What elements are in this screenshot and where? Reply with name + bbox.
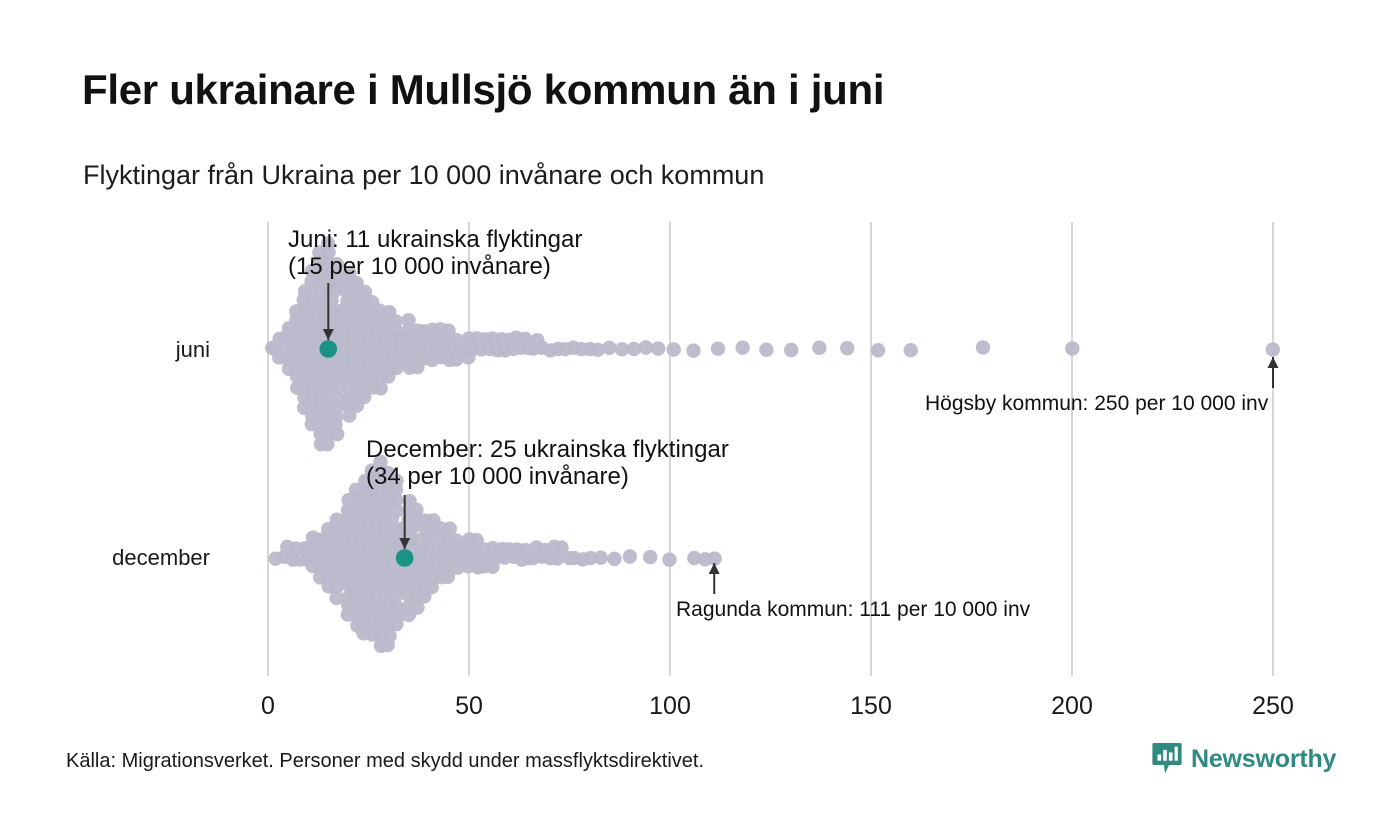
annotation-juni-line-2: (15 per 10 000 invånare) [288,253,582,280]
data-point [330,427,344,441]
y-axis-label-juni: juni [0,337,210,363]
data-point [904,343,918,357]
annotation-hogsby-outlier: Högsby kommun: 250 per 10 000 inv [925,392,1268,416]
highlight-point-december [396,549,414,567]
data-point [651,341,665,355]
x-tick-label-100: 100 [649,692,691,721]
annotation-december-line-1: December: 25 ukrainska flyktingar [366,436,729,463]
data-point [389,314,403,328]
highlight-point-juni [320,340,338,358]
data-point [666,342,680,356]
annotation-juni-line-1: Juni: 11 ukrainska flyktingar [288,226,582,253]
x-tick-label-50: 50 [455,692,483,721]
x-tick-label-150: 150 [850,692,892,721]
data-point [643,550,657,564]
annotation-ragunda-outlier: Ragunda kommun: 111 per 10 000 inv [676,598,1030,622]
newsworthy-logo: Newsworthy [1152,742,1336,776]
data-point [623,549,637,563]
data-point [374,381,388,395]
annotation-december-highlight: December: 25 ukrainska flyktingar (34 pe… [366,436,729,491]
chart-page: Fler ukrainare i Mullsjö kommun än i jun… [0,0,1400,840]
annotation-december-line-2: (34 per 10 000 invånare) [366,463,729,490]
data-point [1266,342,1280,356]
data-point [686,343,700,357]
x-tick-label-250: 250 [1252,692,1294,721]
data-point [840,341,854,355]
data-point [607,552,621,566]
logo-wordmark: Newsworthy [1191,745,1336,774]
source-note: Källa: Migrationsverket. Personer med sk… [66,750,704,773]
data-point [662,552,676,566]
data-point [389,617,403,631]
data-point [639,340,653,354]
data-point [871,343,885,357]
y-axis-label-december: december [0,545,210,571]
x-tick-label-200: 200 [1051,692,1093,721]
beeswarm-plot [0,0,1400,840]
data-point [784,343,798,357]
annotation-arrow-hogsby-outlier [1268,357,1279,388]
data-point [759,342,773,356]
data-point [602,341,616,355]
data-point [1065,341,1079,355]
data-point [381,638,395,652]
annotation-arrow-ragunda-outlier [709,563,720,594]
data-point [976,340,990,354]
data-point [735,340,749,354]
data-point [594,550,608,564]
data-point [711,342,725,356]
bar-chart-bubble-icon [1152,742,1182,776]
annotation-juni-highlight: Juni: 11 ukrainska flyktingar (15 per 10… [288,226,582,281]
x-tick-label-0: 0 [261,692,275,721]
data-point [812,341,826,355]
